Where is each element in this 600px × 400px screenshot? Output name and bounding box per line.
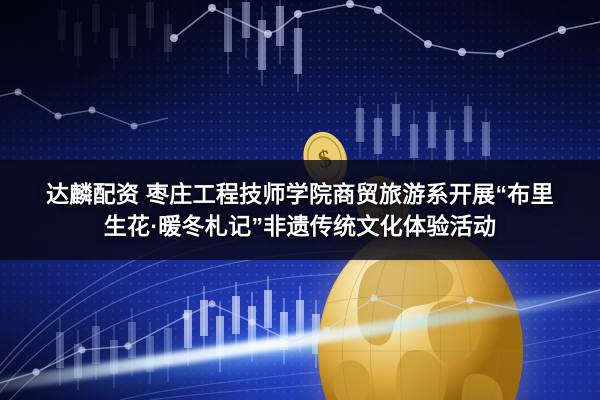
headline: 达麟配资 枣庄工程技师学院商贸旅游系开展“布里 生花·暖冬札记”非遗传统文化体验…: [0, 160, 600, 260]
headline-line-1: 达麟配资 枣庄工程技师学院商贸旅游系开展“布里: [46, 178, 554, 210]
headline-line-2: 生花·暖冬札记”非遗传统文化体验活动: [104, 210, 497, 242]
banner-image: $ $ 达麟配资 枣庄工程技师学院商贸旅游系开展“布里 生花·暖冬札记”非遗传统…: [0, 0, 600, 400]
